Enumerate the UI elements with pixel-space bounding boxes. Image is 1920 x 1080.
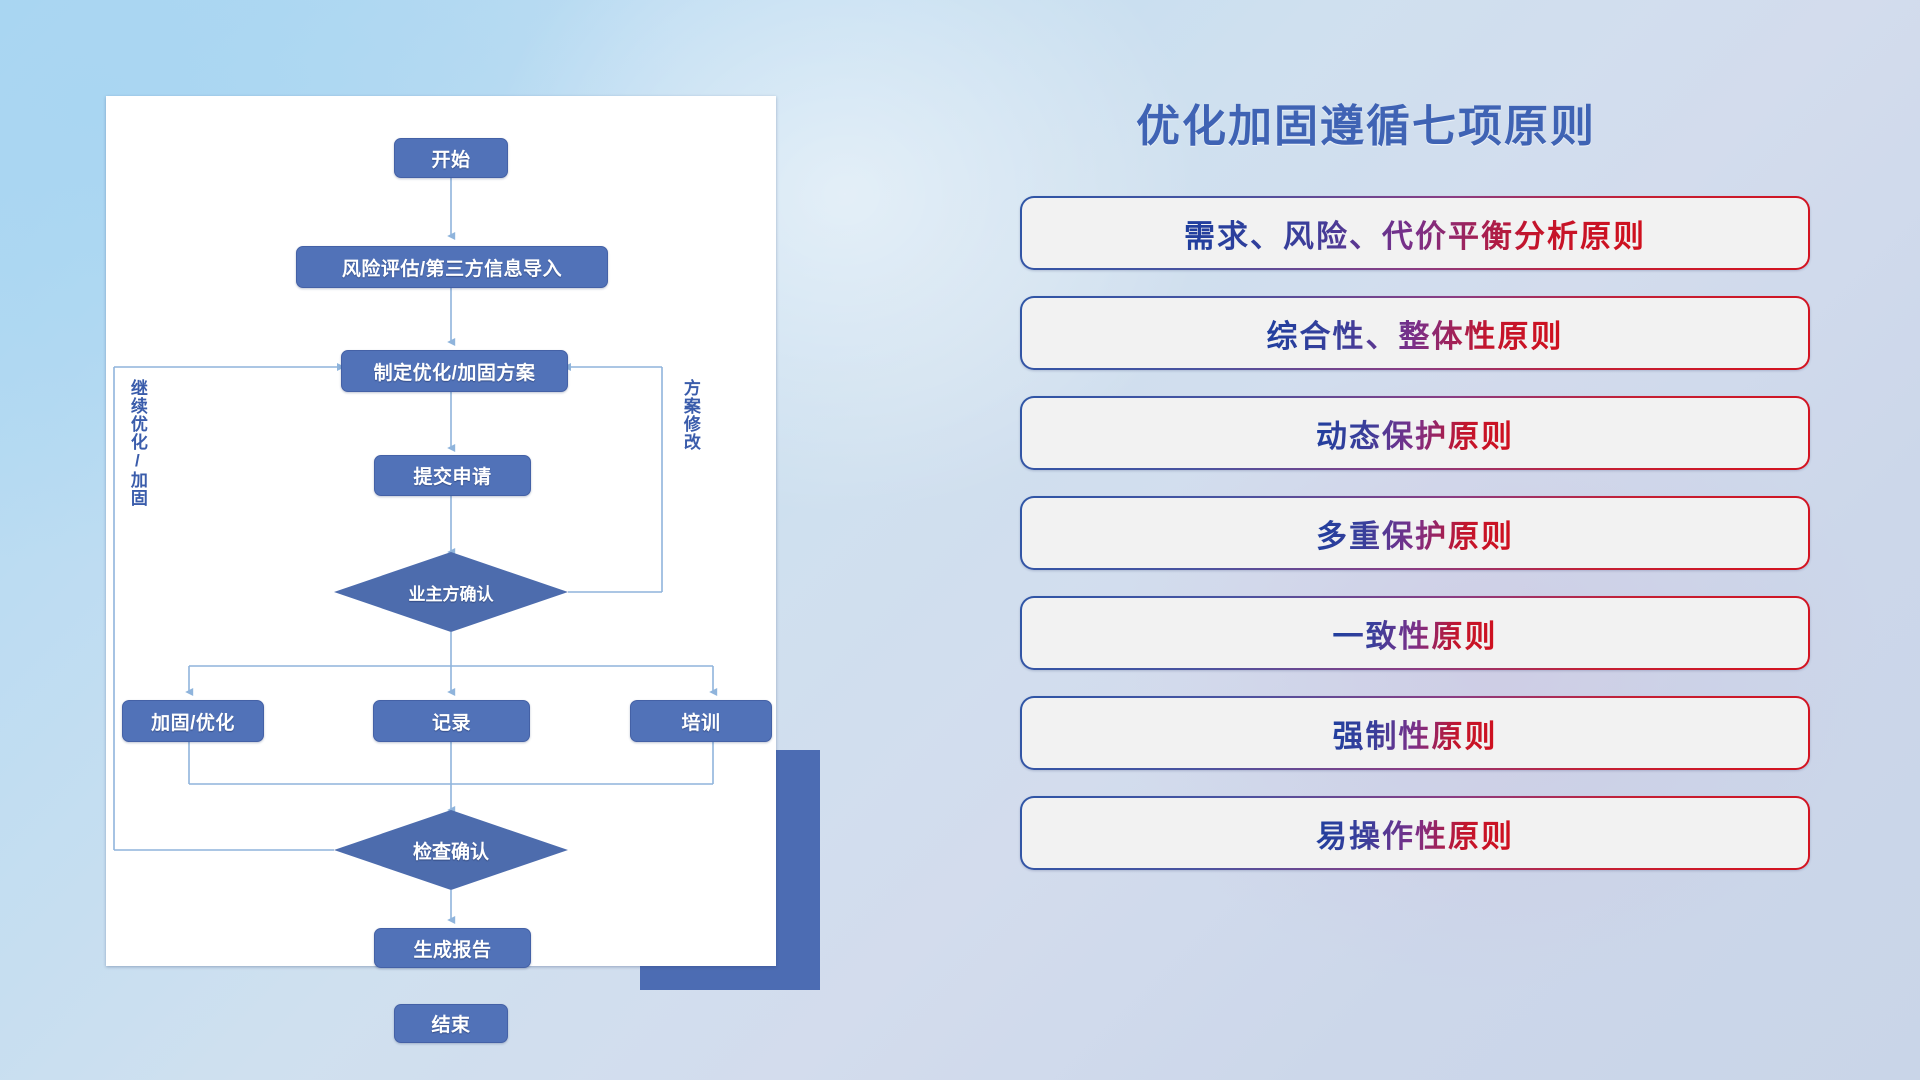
flow-node-record[interactable]: 记录 bbox=[373, 700, 530, 742]
flow-node-plan[interactable]: 制定优化/加固方案 bbox=[341, 350, 568, 392]
principle-item-6[interactable]: 强制性原则 bbox=[1020, 696, 1810, 770]
principle-label: 需求、风险、代价平衡分析原则 bbox=[1184, 211, 1646, 256]
flowchart-card: 开始 风险评估/第三方信息导入 制定优化/加固方案 提交申请 业主方确认 加固/… bbox=[106, 96, 776, 966]
principle-item-surface: 动态保护原则 bbox=[1022, 398, 1808, 468]
principle-label: 综合性、整体性原则 bbox=[1267, 311, 1564, 356]
edge-label-continue-optimize: 继续优化/加固 bbox=[128, 379, 146, 539]
panel-title: 优化加固遵循七项原则 bbox=[1136, 90, 1840, 154]
flow-node-label: 生成报告 bbox=[413, 935, 491, 962]
edge-label-plan-revision: 方案修改 bbox=[681, 379, 699, 489]
flow-node-label: 风险评估/第三方信息导入 bbox=[342, 254, 562, 281]
flow-node-submit-application[interactable]: 提交申请 bbox=[374, 455, 531, 496]
flow-node-label: 加固/优化 bbox=[151, 708, 235, 735]
flow-node-label: 开始 bbox=[431, 145, 470, 172]
principle-item-3[interactable]: 动态保护原则 bbox=[1020, 396, 1810, 470]
principle-item-surface: 多重保护原则 bbox=[1022, 498, 1808, 568]
principle-item-surface: 易操作性原则 bbox=[1022, 798, 1808, 868]
principles-panel: 优化加固遵循七项原则 需求、风险、代价平衡分析原则 综合性、整体性原则 动态保护… bbox=[1020, 90, 1840, 870]
flow-node-generate-report[interactable]: 生成报告 bbox=[374, 928, 531, 968]
principle-item-1[interactable]: 需求、风险、代价平衡分析原则 bbox=[1020, 196, 1810, 270]
principle-item-5[interactable]: 一致性原则 bbox=[1020, 596, 1810, 670]
flow-node-reinforce[interactable]: 加固/优化 bbox=[122, 700, 264, 742]
flow-node-end[interactable]: 结束 bbox=[394, 1004, 508, 1043]
slide-canvas: 开始 风险评估/第三方信息导入 制定优化/加固方案 提交申请 业主方确认 加固/… bbox=[0, 0, 1920, 1080]
flow-node-start[interactable]: 开始 bbox=[394, 138, 508, 178]
flow-node-label: 记录 bbox=[432, 708, 471, 735]
flow-node-check-confirm[interactable]: 检查确认 bbox=[334, 810, 568, 890]
flow-node-training[interactable]: 培训 bbox=[630, 700, 772, 742]
flow-node-label: 结束 bbox=[431, 1010, 470, 1037]
principle-item-surface: 一致性原则 bbox=[1022, 598, 1808, 668]
principle-item-surface: 需求、风险、代价平衡分析原则 bbox=[1022, 198, 1808, 268]
principle-item-7[interactable]: 易操作性原则 bbox=[1020, 796, 1810, 870]
diamond-shape bbox=[334, 810, 568, 890]
flow-node-label: 提交申请 bbox=[413, 462, 491, 489]
flow-node-label: 培训 bbox=[681, 708, 720, 735]
principle-label: 强制性原则 bbox=[1333, 711, 1498, 756]
principle-label: 动态保护原则 bbox=[1316, 411, 1514, 456]
flow-node-owner-confirm[interactable]: 业主方确认 bbox=[334, 552, 568, 632]
principle-label: 一致性原则 bbox=[1333, 611, 1498, 656]
principle-label: 多重保护原则 bbox=[1316, 511, 1514, 556]
principles-list: 需求、风险、代价平衡分析原则 综合性、整体性原则 动态保护原则 多重保护原则 bbox=[1020, 196, 1840, 870]
principle-item-surface: 强制性原则 bbox=[1022, 698, 1808, 768]
principle-item-surface: 综合性、整体性原则 bbox=[1022, 298, 1808, 368]
flow-node-risk-assessment[interactable]: 风险评估/第三方信息导入 bbox=[296, 246, 608, 288]
principle-label: 易操作性原则 bbox=[1316, 811, 1514, 856]
principle-item-4[interactable]: 多重保护原则 bbox=[1020, 496, 1810, 570]
principle-item-2[interactable]: 综合性、整体性原则 bbox=[1020, 296, 1810, 370]
diamond-shape bbox=[334, 552, 568, 632]
flow-node-label: 制定优化/加固方案 bbox=[374, 358, 536, 385]
